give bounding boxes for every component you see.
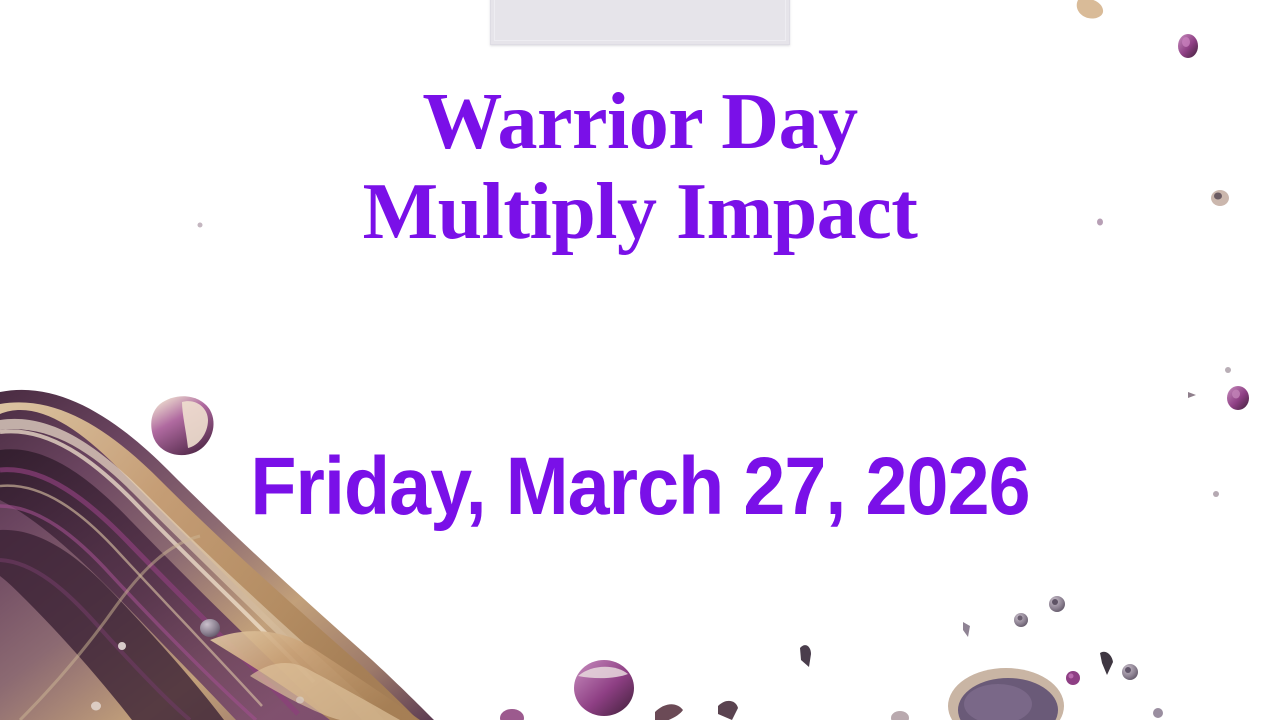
title-line-2: Multiply Impact xyxy=(0,168,1280,258)
page-title: Warrior Day Multiply Impact xyxy=(0,78,1280,257)
event-date: Friday, March 27, 2026 xyxy=(51,440,1229,534)
title-line-1: Warrior Day xyxy=(0,78,1280,168)
content-placeholder-bar[interactable] xyxy=(490,0,790,45)
presentation-slide: Warrior Day Multiply Impact Friday, Marc… xyxy=(0,0,1280,720)
